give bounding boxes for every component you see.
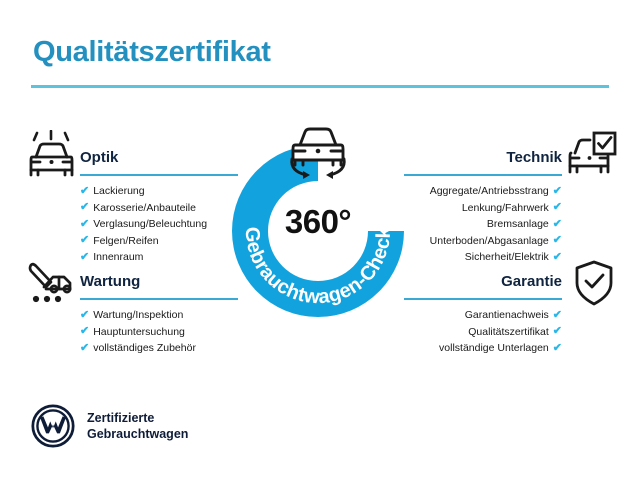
check-icon: ✔ <box>553 310 562 321</box>
check-icon: ✔ <box>80 186 89 197</box>
footer-text: Zertifizierte Gebrauchtwagen <box>87 410 188 442</box>
section-header: Optik <box>80 148 238 176</box>
list-item-label: Bremsanlage <box>487 216 549 233</box>
list-item: ✔ Lackierung <box>80 183 238 200</box>
list-item: Unterboden/Abgasanlage ✔ <box>404 233 562 250</box>
car-front-shine-icon <box>26 130 78 185</box>
list-item: ✔ Verglasung/Beleuchtung <box>80 216 238 233</box>
list-item: Sicherheit/Elektrik ✔ <box>404 249 562 266</box>
gebrauchtwagen-check-badge: Gebrauchtwagen-Check 360° <box>228 141 408 321</box>
list-item-label: Garantienachweis <box>465 307 549 324</box>
section-garantie: Garantie Garantienachweis ✔ Qualitätszer… <box>404 272 562 357</box>
checklist: Garantienachweis ✔ Qualitätszertifikat ✔… <box>404 307 562 357</box>
checklist: ✔ Lackierung ✔ Karosserie/Anbauteile ✔ V… <box>80 183 238 266</box>
page-title: Qualitätszertifikat <box>33 36 271 69</box>
checklist: Aggregate/Antriebsstrang ✔ Lenkung/Fahrw… <box>404 183 562 266</box>
check-icon: ✔ <box>80 326 89 337</box>
list-item-label: Sicherheit/Elektrik <box>465 249 549 266</box>
check-icon: ✔ <box>553 219 562 230</box>
list-item: ✔ Wartung/Inspektion <box>80 307 238 324</box>
list-item-label: Felgen/Reifen <box>93 233 158 250</box>
check-icon: ✔ <box>80 343 89 354</box>
list-item: Aggregate/Antriebsstrang ✔ <box>404 183 562 200</box>
list-item-label: Lenkung/Fahrwerk <box>462 200 549 217</box>
list-item: vollständige Unterlagen ✔ <box>404 340 562 357</box>
check-icon: ✔ <box>80 235 89 246</box>
section-divider <box>80 174 238 176</box>
list-item: Bremsanlage ✔ <box>404 216 562 233</box>
check-icon: ✔ <box>553 326 562 337</box>
list-item-label: Verglasung/Beleuchtung <box>93 216 207 233</box>
list-item: ✔ Felgen/Reifen <box>80 233 238 250</box>
check-icon: ✔ <box>80 202 89 213</box>
list-item: Qualitätszertifikat ✔ <box>404 324 562 341</box>
list-item-label: Aggregate/Antriebsstrang <box>430 183 549 200</box>
check-icon: ✔ <box>553 186 562 197</box>
check-icon: ✔ <box>80 252 89 263</box>
list-item: ✔ Hauptuntersuchung <box>80 324 238 341</box>
footer-branding: Zertifizierte Gebrauchtwagen <box>31 404 188 448</box>
car-rotate-360-icon <box>280 123 356 185</box>
list-item-label: Unterboden/Abgasanlage <box>430 233 549 250</box>
list-item-label: Lackierung <box>93 183 144 200</box>
list-item-label: Hauptuntersuchung <box>93 324 185 341</box>
badge-number: 360° <box>228 203 408 241</box>
check-icon: ✔ <box>553 235 562 246</box>
title-divider <box>31 85 609 88</box>
footer-line-1: Zertifizierte <box>87 410 188 426</box>
list-item-label: Wartung/Inspektion <box>93 307 183 324</box>
list-item-label: Qualitätszertifikat <box>468 324 549 341</box>
section-divider <box>404 174 562 176</box>
checklist: ✔ Wartung/Inspektion ✔ Hauptuntersuchung… <box>80 307 238 357</box>
list-item-label: vollständiges Zubehör <box>93 340 196 357</box>
list-item-label: vollständige Unterlagen <box>439 340 549 357</box>
list-item: Lenkung/Fahrwerk ✔ <box>404 200 562 217</box>
section-title: Wartung <box>80 272 238 292</box>
section-wartung: Wartung ✔ Wartung/Inspektion ✔ Hauptunte… <box>80 272 238 357</box>
section-technik: Technik Aggregate/Antriebsstrang ✔ Lenku… <box>404 148 562 266</box>
list-item: ✔ Innenraum <box>80 249 238 266</box>
check-icon: ✔ <box>553 343 562 354</box>
qualitaetszertifikat-page: Qualitätszertifikat <box>0 0 640 480</box>
section-header: Garantie <box>404 272 562 300</box>
section-title: Technik <box>404 148 562 168</box>
section-divider <box>80 298 238 300</box>
check-icon: ✔ <box>553 252 562 263</box>
section-header: Technik <box>404 148 562 176</box>
section-title: Optik <box>80 148 238 168</box>
check-icon: ✔ <box>553 202 562 213</box>
list-item: ✔ Karosserie/Anbauteile <box>80 200 238 217</box>
footer-line-2: Gebrauchtwagen <box>87 426 188 442</box>
car-wrench-service-icon <box>26 261 78 310</box>
volkswagen-logo <box>31 404 75 448</box>
section-divider <box>404 298 562 300</box>
section-header: Wartung <box>80 272 238 300</box>
list-item: ✔ vollständiges Zubehör <box>80 340 238 357</box>
list-item-label: Karosserie/Anbauteile <box>93 200 196 217</box>
list-item: Garantienachweis ✔ <box>404 307 562 324</box>
section-title: Garantie <box>404 272 562 292</box>
check-icon: ✔ <box>80 219 89 230</box>
shield-check-icon <box>572 259 616 312</box>
section-optik: Optik ✔ Lackierung ✔ Karosserie/Anbautei… <box>80 148 238 266</box>
check-icon: ✔ <box>80 310 89 321</box>
car-front-checkbox-icon <box>566 131 618 184</box>
list-item-label: Innenraum <box>93 249 143 266</box>
